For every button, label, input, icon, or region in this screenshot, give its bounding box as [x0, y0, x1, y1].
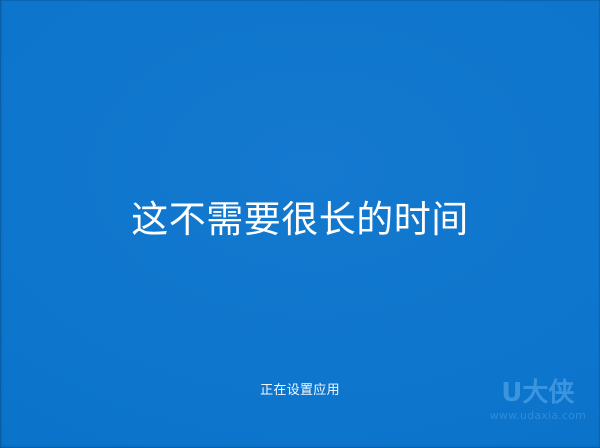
site-watermark: U大侠 www.udaxia.com [490, 380, 586, 422]
watermark-url-text: www.udaxia.com [490, 409, 586, 422]
primary-status-region: 这不需要很长的时间 [0, 196, 600, 244]
watermark-logo-text: U大侠 [490, 380, 586, 406]
windows-setup-screen: 这不需要很长的时间 正在设置应用 U大侠 www.udaxia.com [0, 0, 600, 448]
page-title: 这不需要很长的时间 [0, 196, 600, 244]
